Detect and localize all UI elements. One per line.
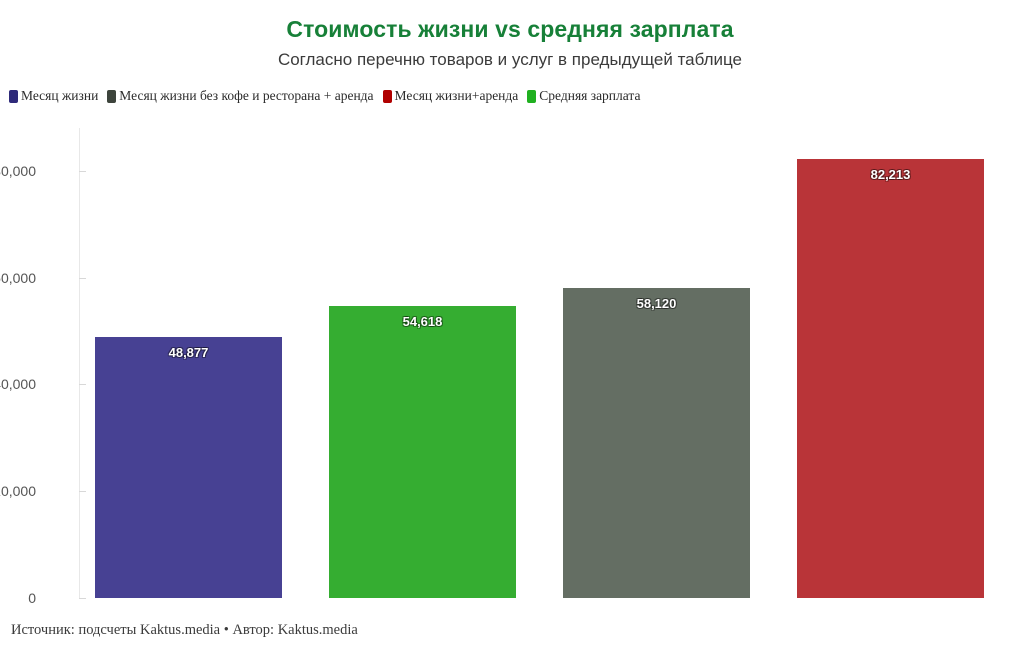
chart-legend: Месяц жизниМесяц жизни без кофе и рестор… [9,86,1011,106]
bar-value-label: 48,877 [95,345,282,361]
bar[interactable]: 48,877 [95,337,282,598]
legend-item[interactable]: Средняя зарплата [527,89,640,103]
legend-swatch-icon [107,90,116,103]
bar[interactable]: 58,120 [563,288,750,598]
bar[interactable]: 82,213 [797,159,984,598]
plot-area: 020,00040,00060,00080,000 48,87754,61858… [0,120,1020,610]
chart-subtitle: Согласно перечню товаров и услуг в преды… [0,43,1020,71]
legend-item-label: Месяц жизни [21,89,98,103]
chart-title: Стоимость жизни vs средняя зарплата [0,0,1020,43]
legend-item-label: Месяц жизни+аренда [395,89,519,103]
footer-source-note: Источник: подсчеты Kaktus.media • Автор:… [11,621,358,639]
footer-divider [0,612,1020,613]
legend-swatch-icon [9,90,18,103]
bar-value-label: 54,618 [329,314,516,330]
legend-item[interactable]: Месяц жизни [9,89,98,103]
legend-item-label: Средняя зарплата [539,89,640,103]
bars-layer: 48,87754,61858,12082,213 [0,120,1020,610]
legend-item[interactable]: Месяц жизни+аренда [383,89,519,103]
legend-swatch-icon [527,90,536,103]
legend-item[interactable]: Месяц жизни без кофе и ресторана + аренд… [107,89,373,103]
bar-value-label: 82,213 [797,167,984,183]
bar-value-label: 58,120 [563,296,750,312]
bar[interactable]: 54,618 [329,306,516,598]
legend-swatch-icon [383,90,392,103]
legend-item-label: Месяц жизни без кофе и ресторана + аренд… [119,89,373,103]
